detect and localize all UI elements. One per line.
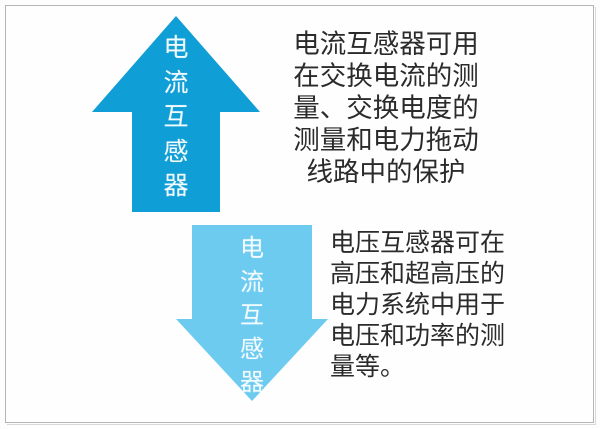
voltage-transformer-arrow: 电 流 互 感 器	[176, 225, 328, 401]
current-transformer-arrow: 电 流 互 感 器	[92, 16, 260, 212]
current-transformer-arrow-label: 电 流 互 感 器	[92, 32, 260, 205]
voltage-transformer-arrow-label: 电 流 互 感 器	[176, 233, 328, 401]
current-transformer-description: 电流互感器可用 在交换电流的测 量、交换电度的 测量和电力拖动 线路中的保护	[261, 28, 511, 188]
diagram-canvas: 电 流 互 感 器 电 流 互 感 器 电流互感器可用 在交换电流的测 量、交换…	[0, 0, 600, 429]
voltage-transformer-description: 电压互感器可在 高压和超高压的 电力系统中用于 电压和功率的测 量等。	[330, 228, 538, 383]
